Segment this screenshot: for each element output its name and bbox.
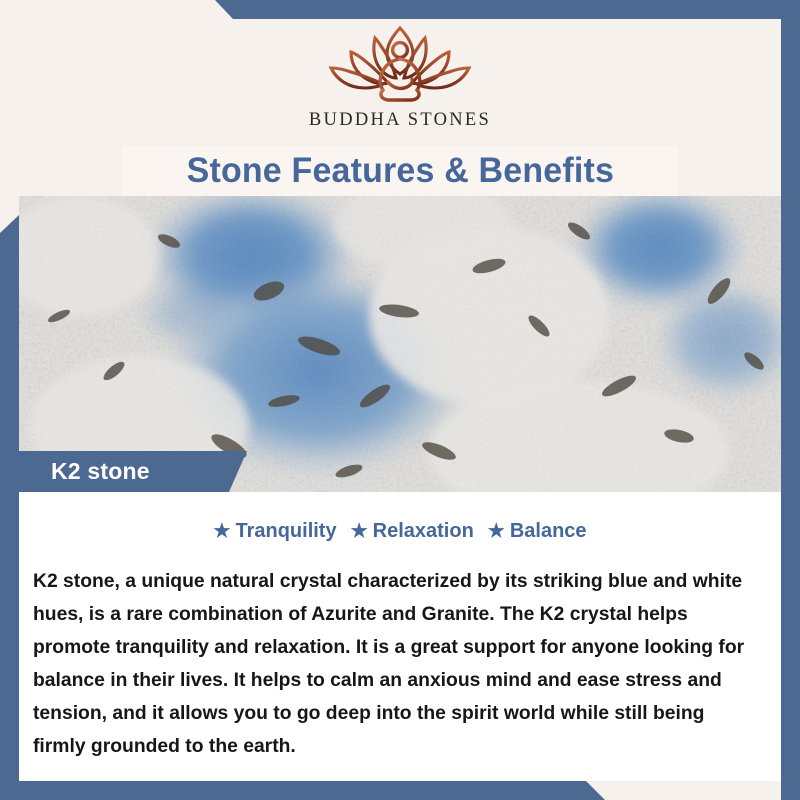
benefit-label: Relaxation — [373, 520, 474, 543]
lotus-meditation-icon — [315, 22, 485, 104]
star-icon: ★ — [488, 522, 505, 541]
content-card: ★ Tranquility ★ Relaxation ★ Balance K2 … — [19, 492, 781, 781]
benefit-item-tranquility: ★ Tranquility — [213, 520, 336, 543]
frame-left-bar — [0, 215, 19, 800]
frame-bottom-bar — [0, 781, 800, 800]
star-icon: ★ — [213, 522, 230, 541]
title-band: Stone Features & Benefits — [122, 146, 678, 196]
benefit-item-balance: ★ Balance — [488, 520, 587, 543]
star-icon: ★ — [351, 522, 368, 541]
benefit-item-relaxation: ★ Relaxation — [351, 520, 474, 543]
brand-logo: BUDDHA STONES — [309, 22, 491, 131]
page-title: Stone Features & Benefits — [186, 151, 613, 191]
stone-caption-text: K2 stone — [19, 458, 150, 485]
k2-stone-photo — [19, 196, 781, 492]
benefit-label: Tranquility — [235, 520, 336, 543]
stone-caption-banner: K2 stone — [19, 451, 247, 492]
description-paragraph: K2 stone, a unique natural crystal chara… — [33, 565, 760, 763]
benefits-list: ★ Tranquility ★ Relaxation ★ Balance — [19, 520, 781, 543]
infographic-page: BUDDHA STONES Stone Features & Benefits — [0, 0, 800, 800]
stone-texture-graphic — [19, 196, 781, 492]
brand-name: BUDDHA STONES — [309, 110, 491, 131]
benefit-label: Balance — [510, 520, 587, 543]
